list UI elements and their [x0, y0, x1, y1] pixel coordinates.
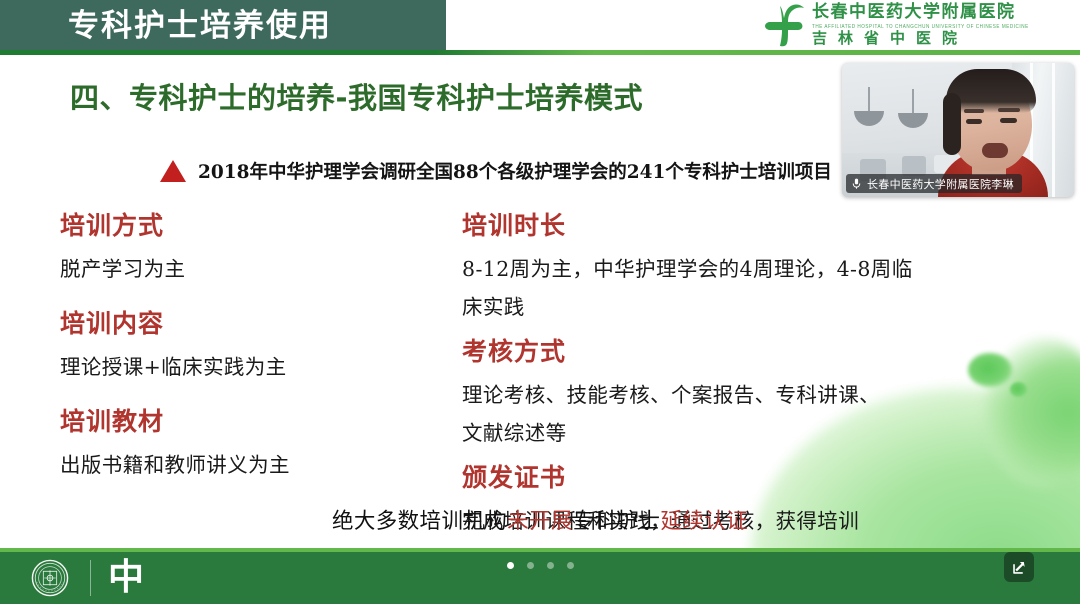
presentation-viewer: 专科护士培养使用 长春中医药大学附属医院 THE AFFILIATED HOSP…	[0, 0, 1080, 604]
page-dot-2[interactable]	[527, 562, 534, 569]
right-content-column: 培训时长 8-12周为主，中华护理学会的4周理论，4-8周临 床实践 考核方式 …	[462, 206, 1002, 548]
speaker-eye-right	[1000, 118, 1017, 123]
slide-footnote: 绝大多数培训机构未开展专科护士延续认证	[0, 504, 1080, 535]
section-body-assessment-method-line1: 理论考核、技能考核、个案报告、专科讲课、	[462, 378, 1002, 408]
footnote-highlight-2: 延续认证	[660, 509, 748, 534]
section-body-training-method: 脱产学习为主	[60, 252, 450, 282]
footnote-part-2: 专科护士	[573, 509, 661, 534]
speaker-brow-right	[998, 108, 1020, 112]
section-body-training-materials: 出版书籍和教师讲义为主	[60, 448, 450, 478]
section-heading-certificate: 颁发证书	[462, 458, 1002, 494]
slide-title: 四、专科护士的培养-我国专科护士培养模式	[70, 78, 790, 118]
section-body-training-content: 理论授课+临床实践为主	[60, 350, 450, 380]
green-cross-icon	[760, 4, 808, 48]
hospital-logo-text: 长春中医药大学附属医院 THE AFFILIATED HOSPITAL TO C…	[812, 3, 1074, 47]
page-dot-3[interactable]	[547, 562, 554, 569]
header-accent-rule	[0, 50, 1080, 55]
page-dot-4[interactable]	[567, 562, 574, 569]
expand-fullscreen-icon	[1011, 559, 1028, 576]
hospital-name-cn: 长春中医药大学附属医院	[812, 3, 1074, 22]
speaker-mouth	[982, 143, 1008, 158]
fullscreen-button[interactable]	[1004, 552, 1034, 582]
footer-bar: 中	[0, 548, 1080, 604]
slide-subtitle: 2018年中华护理学会调研全国88个各级护理学会的241个专科护士培训项目	[198, 158, 832, 184]
speaker-video-thumbnail[interactable]: 长春中医药大学附属医院李琳	[842, 63, 1074, 197]
section-heading-training-content: 培训内容	[60, 304, 450, 340]
page-dot-1[interactable]	[507, 562, 514, 569]
decorative-green-dot-small	[1010, 382, 1027, 397]
section-body-assessment-method-line2: 文献综述等	[462, 416, 1002, 446]
footnote-highlight-1: 未开展	[507, 509, 573, 534]
presentation-banner-title: 专科护士培养使用	[68, 5, 428, 47]
section-heading-assessment-method: 考核方式	[462, 332, 1002, 368]
section-heading-training-materials: 培训教材	[60, 402, 450, 438]
speaker-eye-left	[966, 119, 982, 124]
microphone-icon	[850, 177, 863, 190]
section-body-training-duration-line1: 8-12周为主，中华护理学会的4周理论，4-8周临	[462, 252, 1002, 282]
footer-accent-line	[0, 548, 1080, 552]
section-heading-training-duration: 培训时长	[462, 206, 1002, 242]
footnote-part-1: 绝大多数培训机构	[332, 509, 507, 534]
hospital-name-en: THE AFFILIATED HOSPITAL TO CHANGCHUN UNI…	[812, 22, 1074, 30]
slide-subtitle-row: 2018年中华护理学会调研全国88个各级护理学会的241个专科护士培训项目	[160, 156, 880, 186]
speaker-name-label: 长春中医药大学附属医院李琳	[867, 176, 1014, 192]
hospital-subname-cn: 吉林省中医院	[812, 29, 1074, 47]
speaker-hair-side	[943, 93, 961, 155]
section-heading-training-method: 培训方式	[60, 206, 450, 242]
speaker-name-bar: 长春中医药大学附属医院李琳	[846, 174, 1022, 193]
red-triangle-icon	[160, 160, 186, 182]
section-body-training-duration-line2: 床实践	[462, 290, 1002, 320]
left-content-column: 培训方式 脱产学习为主 培训内容 理论授课+临床实践为主 培训教材 出版书籍和教…	[60, 206, 450, 478]
speaker-brow-left	[964, 109, 984, 113]
hospital-logo: 长春中医药大学附属医院 THE AFFILIATED HOSPITAL TO C…	[760, 3, 1076, 49]
video-background-chair-2	[902, 156, 926, 176]
page-indicator-dots[interactable]	[0, 562, 1080, 569]
header-bar: 专科护士培养使用 长春中医药大学附属医院 THE AFFILIATED HOSP…	[0, 0, 1080, 56]
